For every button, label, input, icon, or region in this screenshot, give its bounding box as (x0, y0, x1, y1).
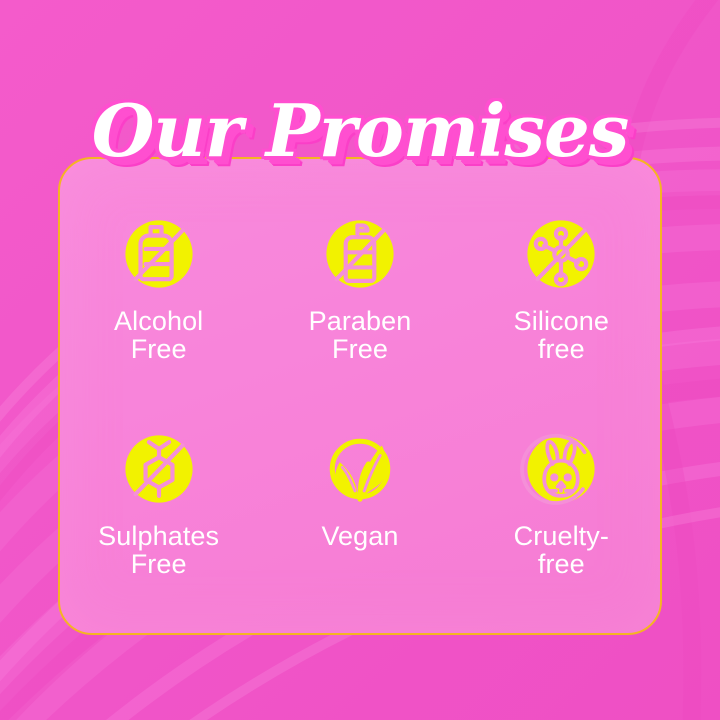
no-alcohol-bottle-icon (117, 212, 201, 296)
promise-label: Alcohol Free (114, 308, 203, 363)
promise-item-vegan[interactable]: Vegan (259, 405, 460, 620)
promise-item-alcohol-free[interactable]: Alcohol Free (58, 190, 259, 405)
no-silicone-molecule-icon (519, 212, 603, 296)
promise-label: Cruelty- free (514, 523, 609, 578)
cruelty-free-rabbit-icon (519, 427, 603, 511)
promises-graphic: Our Promises Alcohol Free (0, 0, 720, 720)
promise-item-cruelty-free[interactable]: Cruelty- free (461, 405, 662, 620)
promise-item-paraben-free[interactable]: Paraben Free (259, 190, 460, 405)
promise-label: Sulphates Free (98, 523, 219, 578)
promise-label: Paraben Free (309, 308, 412, 363)
promises-grid: Alcohol Free Paraben Free (58, 190, 662, 620)
vegan-leaf-icon (318, 427, 402, 511)
promise-label: Silicone free (514, 308, 609, 363)
promise-item-silicone-free[interactable]: Silicone free (461, 190, 662, 405)
no-paraben-pump-bottle-icon (318, 212, 402, 296)
no-sulphates-hexagon-molecule-icon (117, 427, 201, 511)
page-title: Our Promises (0, 95, 720, 167)
promise-label: Vegan (321, 523, 398, 551)
promise-item-sulphates-free[interactable]: Sulphates Free (58, 405, 259, 620)
